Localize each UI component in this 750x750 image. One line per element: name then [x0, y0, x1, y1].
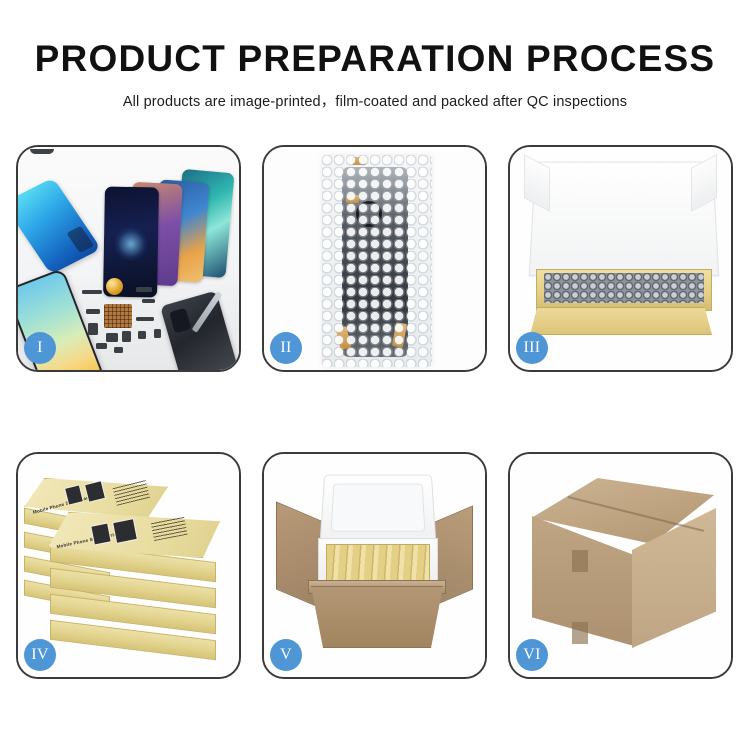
bubble-wrapped-contents [544, 273, 704, 303]
small-part [82, 290, 102, 294]
small-part [136, 287, 152, 292]
carton-tape-lower [572, 622, 588, 644]
step-panel-2: II [262, 145, 487, 372]
kraft-boxes-inside [326, 544, 430, 584]
page-subtitle: All products are image-printed，film-coat… [0, 79, 750, 111]
process-steps-grid: I II III [16, 145, 734, 679]
step-badge-4: IV [24, 639, 56, 671]
step-panel-1: I [16, 145, 241, 372]
small-part [114, 347, 123, 353]
chip-array [104, 304, 132, 328]
small-part [142, 299, 155, 303]
step-badge-2: II [270, 332, 302, 364]
box-window-front [90, 522, 111, 545]
foam-box-lid [320, 475, 437, 542]
step-badge-3: III [516, 332, 548, 364]
small-part [136, 317, 154, 321]
small-part [138, 331, 146, 339]
box-window-front [112, 518, 138, 544]
small-part [86, 309, 100, 314]
carton-tape-upper [572, 550, 588, 572]
step-panel-4: Mobile Phone Spare Parts Mobile Phone Sp… [16, 452, 241, 679]
gold-component [106, 278, 123, 295]
carton-body [302, 586, 452, 648]
bubble-wrap-bag [322, 155, 432, 367]
step-panel-6: VI [508, 452, 733, 679]
small-part [154, 329, 161, 338]
kraft-box-front [530, 307, 712, 335]
small-part [106, 333, 118, 342]
page-title: PRODUCT PREPARATION PROCESS [0, 0, 750, 79]
small-part [96, 343, 107, 349]
small-part [88, 323, 98, 335]
step-badge-6: VI [516, 639, 548, 671]
step-panel-5: V [262, 452, 487, 679]
step-badge-5: V [270, 639, 302, 671]
bubble-texture [322, 155, 432, 367]
small-part [122, 331, 131, 342]
step-panel-3: III [508, 145, 733, 372]
header: PRODUCT PREPARATION PROCESS All products… [0, 0, 750, 111]
step-badge-1: I [24, 332, 56, 364]
